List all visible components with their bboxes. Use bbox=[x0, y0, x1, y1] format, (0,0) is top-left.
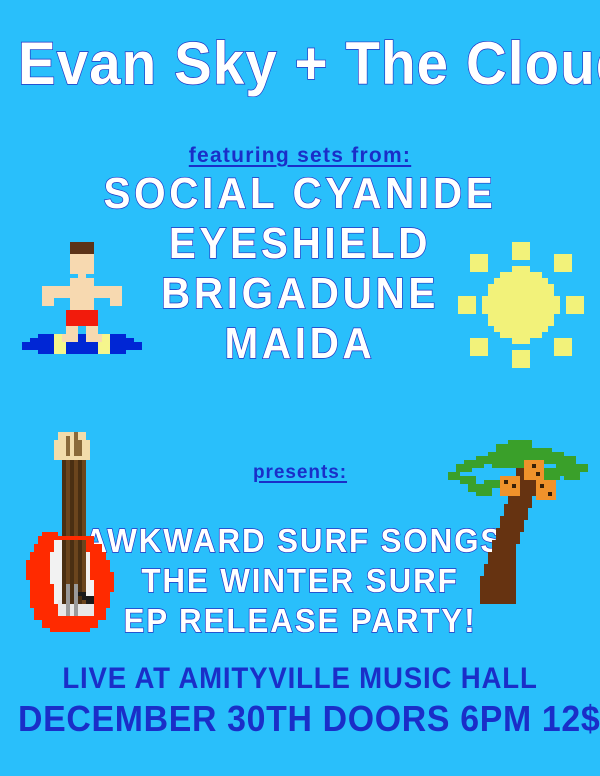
featuring-label: featuring sets from: bbox=[0, 145, 600, 166]
concert-poster: Evan Sky + The Clouds featuring sets fro… bbox=[0, 0, 600, 776]
footer-details: LIVE AT AMITYVILLE MUSIC HALL DECEMBER 3… bbox=[0, 664, 600, 737]
band-name: SOCIAL CYANIDE bbox=[24, 172, 576, 216]
sun-sprite bbox=[458, 242, 584, 368]
date-line: DECEMBER 30TH DOORS 6PM 12$ bbox=[18, 701, 582, 737]
guitar-sprite bbox=[22, 428, 126, 632]
palm-tree-sprite bbox=[448, 436, 588, 612]
surfer-sprite bbox=[18, 238, 142, 358]
page-title: Evan Sky + The Clouds bbox=[18, 34, 582, 94]
venue-line: LIVE AT AMITYVILLE MUSIC HALL bbox=[24, 664, 576, 694]
